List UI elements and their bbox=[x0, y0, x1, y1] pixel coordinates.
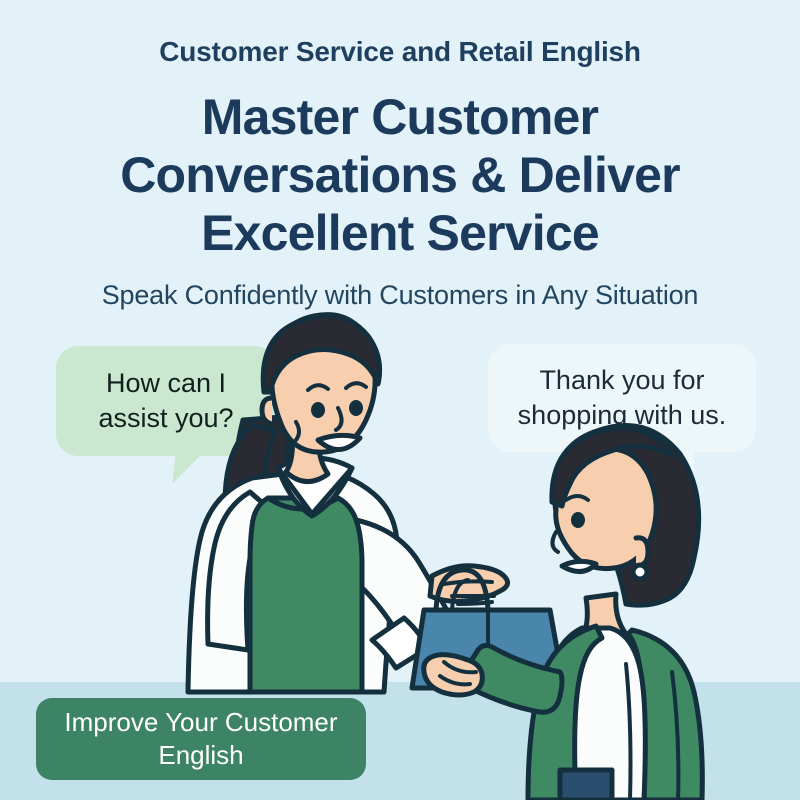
illustration-scene bbox=[0, 0, 800, 800]
cta-badge[interactable]: Improve Your Customer English bbox=[36, 698, 366, 780]
poster-canvas: Customer Service and Retail English Mast… bbox=[0, 0, 800, 800]
